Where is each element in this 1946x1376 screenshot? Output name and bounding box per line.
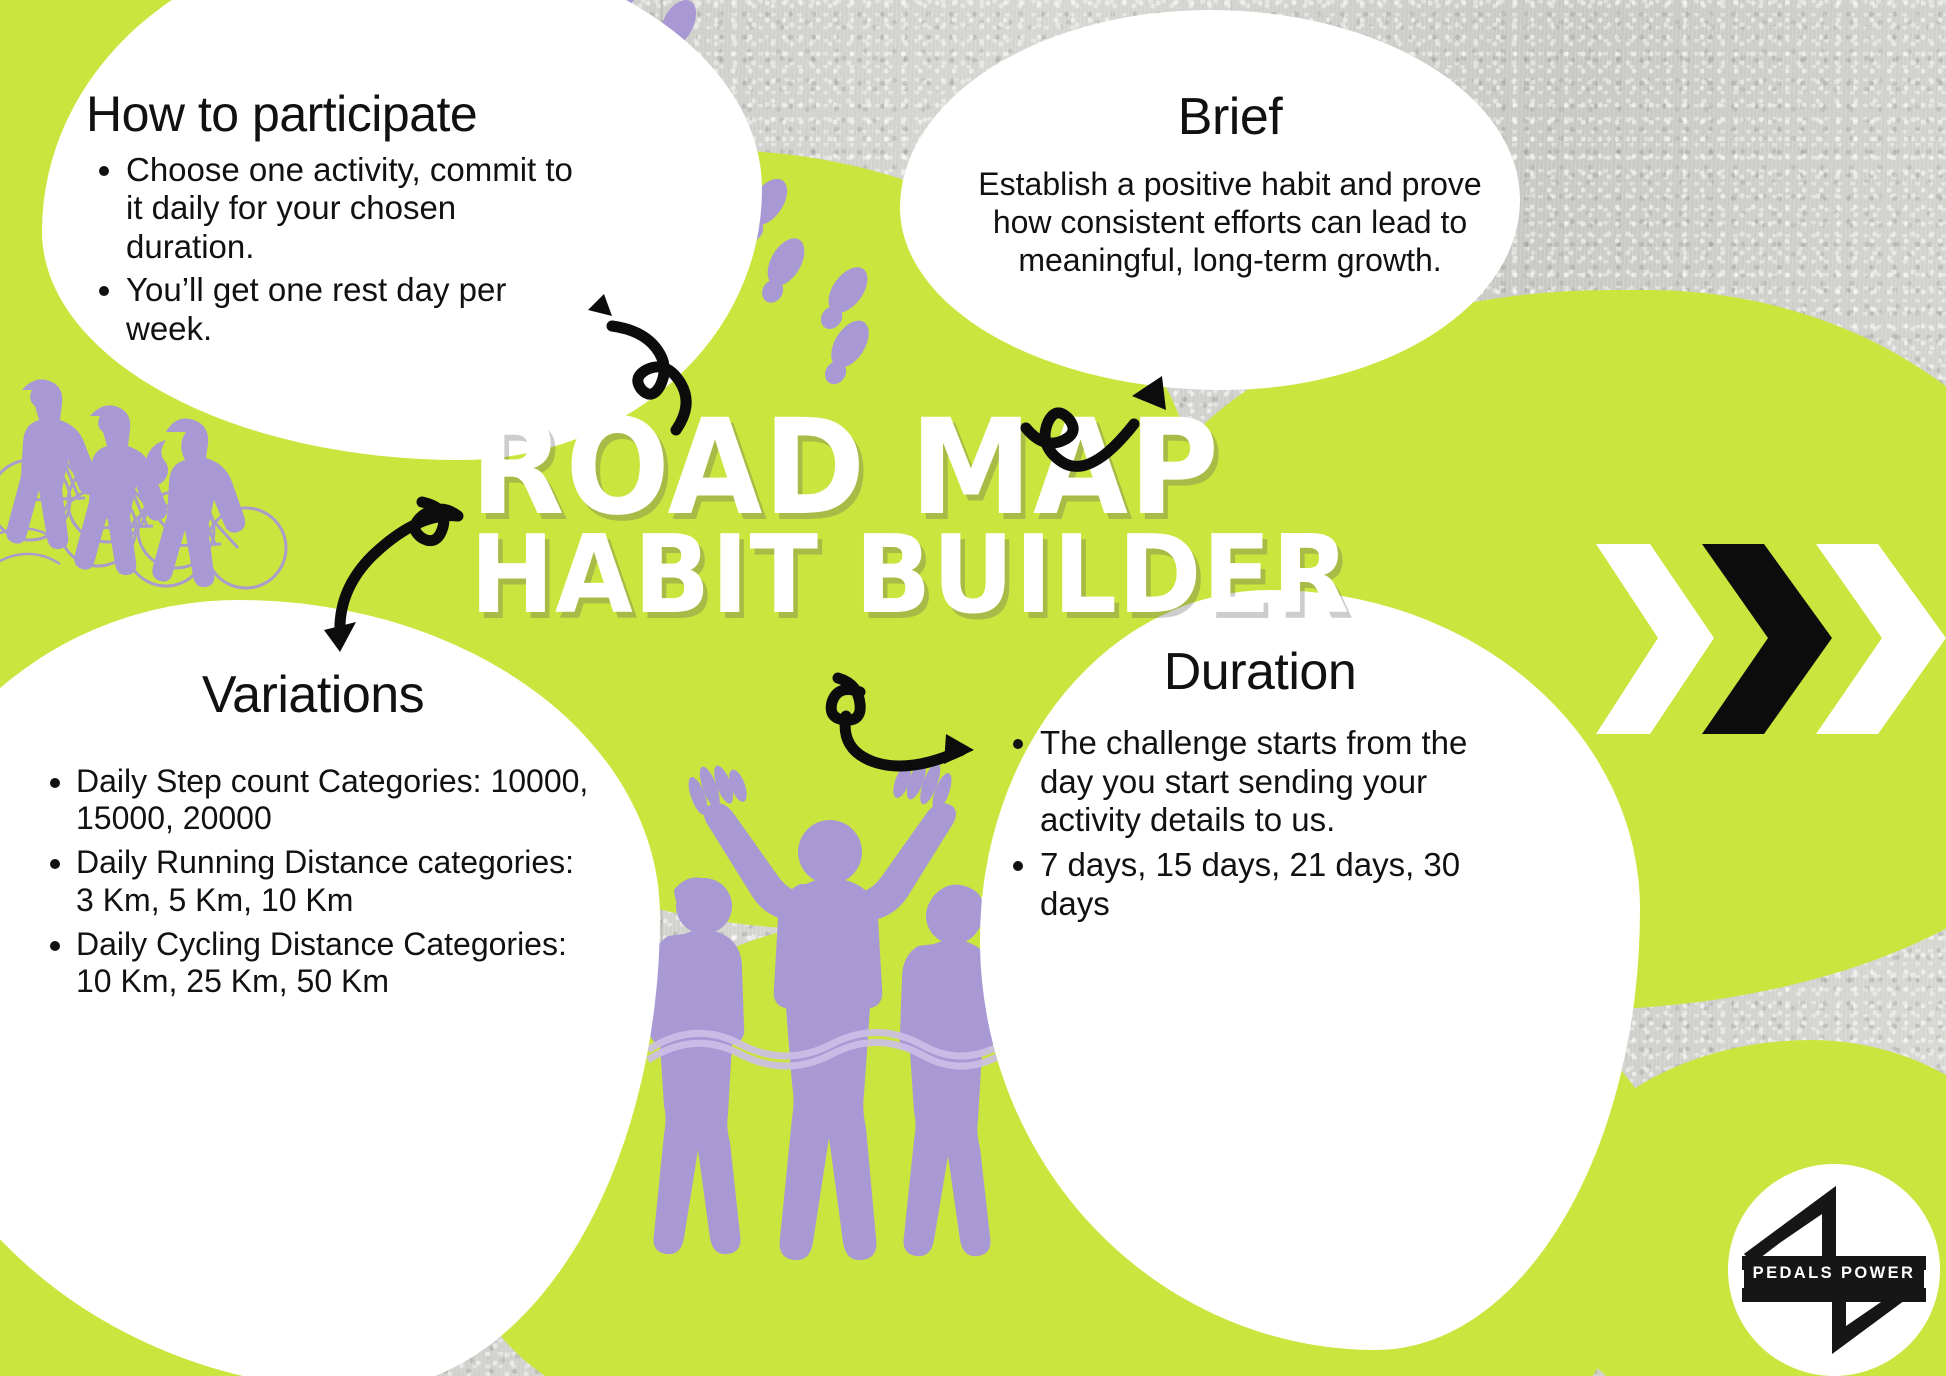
card-brief: Brief Establish a positive habit and pro… bbox=[960, 90, 1500, 280]
list-item: You’ll get one rest day per week. bbox=[126, 271, 586, 349]
list-item: The challenge starts from the day you st… bbox=[1040, 724, 1520, 841]
white-chevron-icon bbox=[1596, 544, 1714, 734]
card-variations: Variations Daily Step count Categories: … bbox=[28, 668, 598, 1007]
curly-arrow-to-brief bbox=[1022, 352, 1192, 482]
card-how-to-participate: How to participate Choose one activity, … bbox=[86, 88, 586, 353]
brief-heading: Brief bbox=[960, 90, 1500, 145]
title-main: ROAD MAP bbox=[470, 412, 1009, 526]
variations-bullet-list: Daily Step count Categories: 10000, 1500… bbox=[28, 763, 598, 1002]
card-duration: Duration The challenge starts from the d… bbox=[1000, 645, 1520, 930]
variations-heading: Variations bbox=[28, 668, 598, 723]
title-sub: HABIT BUILDER bbox=[470, 530, 1009, 623]
list-item: Choose one activity, commit to it daily … bbox=[126, 151, 586, 268]
black-chevron-icon bbox=[1702, 544, 1832, 734]
poster-title: ROAD MAP HABIT BUILDER bbox=[470, 412, 1050, 622]
list-item: Daily Cycling Distance Categories: 10 Km… bbox=[76, 926, 598, 1002]
pedals-power-logo: PEDALS POWER bbox=[1726, 1162, 1942, 1376]
duration-heading: Duration bbox=[1000, 645, 1520, 700]
list-item: 7 days, 15 days, 21 days, 30 days bbox=[1040, 846, 1520, 924]
curly-arrow-to-variations bbox=[316, 496, 486, 656]
participate-bullet-list: Choose one activity, commit to it daily … bbox=[86, 151, 586, 350]
brief-body: Establish a positive habit and prove how… bbox=[960, 165, 1500, 280]
logo-text: PEDALS POWER bbox=[1744, 1258, 1924, 1288]
white-chevron-icon bbox=[1816, 544, 1946, 734]
list-item: Daily Step count Categories: 10000, 1500… bbox=[76, 763, 598, 839]
duration-bullet-list: The challenge starts from the day you st… bbox=[1000, 724, 1520, 925]
chevron-arrows bbox=[1596, 528, 1946, 750]
curly-arrow-to-participate bbox=[556, 282, 716, 442]
list-item: Daily Running Distance categories: 3 Km,… bbox=[76, 844, 598, 920]
runners-silhouette bbox=[640, 760, 1020, 1376]
poster-canvas: ROAD MAP HABIT BUILDER How to particip bbox=[0, 0, 1946, 1376]
curly-arrow-to-duration bbox=[816, 664, 986, 784]
participate-heading: How to participate bbox=[86, 88, 586, 141]
